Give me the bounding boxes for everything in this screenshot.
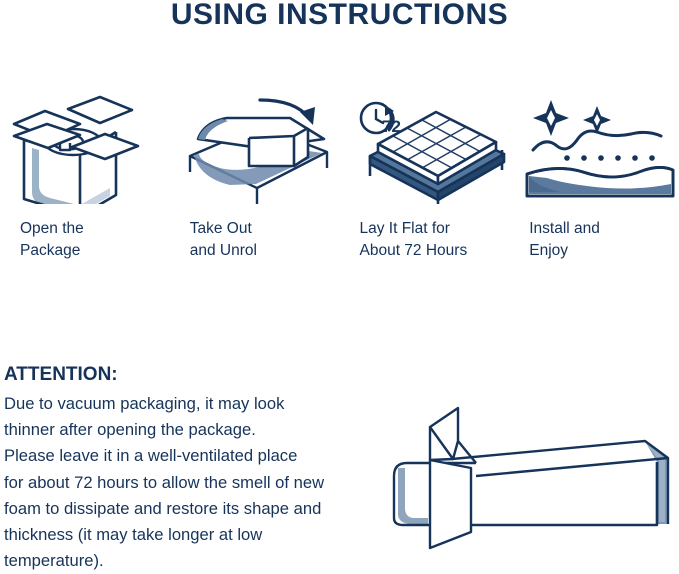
step-take-out-and-unrol: Take Out and Unrol bbox=[170, 92, 340, 262]
step-lay-it-flat: 72 bbox=[340, 92, 510, 262]
mattress-on-bed-72-hours-icon: 72 bbox=[352, 92, 510, 202]
open-box-icon bbox=[12, 92, 170, 202]
clock-72-badge: 72 bbox=[361, 103, 401, 136]
attention-body-text: Due to vacuum packaging, it may look thi… bbox=[4, 391, 404, 574]
unroll-mattress-arrow-icon bbox=[182, 92, 340, 202]
steps-row: Open the Package bbox=[0, 92, 679, 262]
attention-section: ATTENTION: Due to vacuum packaging, it m… bbox=[4, 362, 404, 574]
step-install-and-enjoy: Install and Enjoy bbox=[509, 92, 679, 262]
fresh-mattress-sparkle-icon bbox=[521, 92, 679, 202]
page-title: USING INSTRUCTIONS bbox=[0, 0, 679, 32]
attention-heading: ATTENTION: bbox=[4, 362, 404, 388]
step-open-the-package: Open the Package bbox=[0, 92, 170, 262]
long-open-carton-box-illustration bbox=[380, 396, 679, 563]
step-label-install-and-enjoy: Install and Enjoy bbox=[521, 218, 679, 262]
step-label-lay-it-flat: Lay It Flat for About 72 Hours bbox=[352, 218, 510, 262]
step-label-take-out-and-unrol: Take Out and Unrol bbox=[182, 218, 340, 262]
step-label-open-the-package: Open the Package bbox=[12, 218, 170, 262]
